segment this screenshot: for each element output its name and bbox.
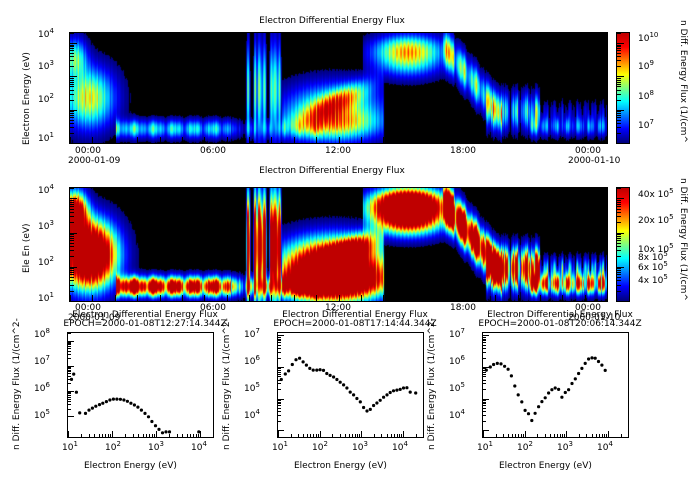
axis-tick (617, 53, 621, 54)
axis-tick (403, 431, 404, 437)
sl-ytick-1e7: 107 (34, 357, 50, 367)
axis-tick (278, 383, 281, 384)
axis-tick (278, 389, 281, 390)
axis-tick (483, 340, 486, 341)
axis-tick (227, 295, 228, 301)
mid-ytick-1e4: 104 (38, 186, 54, 196)
axis-tick (607, 137, 608, 143)
axis-tick (278, 421, 281, 422)
axis-tick (518, 295, 519, 301)
axis-tick (483, 431, 484, 437)
axis-tick (617, 285, 621, 286)
axis-tick (204, 137, 205, 143)
axis-tick (278, 403, 281, 404)
axis-tick (473, 137, 474, 143)
sl-ytick-1e5: 105 (34, 411, 50, 421)
top-spectrogram-ylabel: Electron Energy (eV) (22, 52, 32, 145)
axis-tick (483, 411, 486, 412)
axis-tick (70, 216, 74, 217)
axis-tick (537, 434, 538, 437)
axis-tick (278, 339, 281, 340)
top-ytick-1e4: 104 (38, 30, 54, 40)
top-cb-tick-1e10: 1010 (638, 34, 658, 44)
axis-tick (313, 434, 314, 437)
axis-tick (316, 434, 317, 437)
axis-tick (68, 393, 71, 394)
top-xtick-date-4: 2000-01-10 (568, 156, 620, 166)
axis-tick (483, 399, 489, 400)
top-ytick-1e3: 103 (38, 62, 54, 72)
spectrum-middle-xlabel: Electron Energy (eV) (294, 461, 387, 471)
axis-tick (138, 434, 139, 437)
axis-tick (278, 345, 281, 346)
axis-tick (70, 256, 74, 257)
axis-tick (483, 335, 489, 336)
axis-tick (102, 434, 103, 437)
axis-tick (617, 123, 621, 124)
sl-ytick-1e6: 106 (34, 384, 50, 394)
axis-tick (137, 137, 138, 143)
axis-tick (617, 222, 621, 223)
axis-tick (617, 277, 621, 278)
axis-tick (579, 434, 580, 437)
axis-tick (617, 236, 621, 237)
axis-tick (182, 434, 183, 437)
axis-tick (68, 373, 71, 374)
axis-tick (361, 137, 362, 143)
top-xtick-2: 12:00 (325, 146, 351, 156)
axis-tick (70, 270, 74, 271)
axis-tick (278, 372, 281, 373)
axis-tick (68, 344, 71, 345)
axis-tick (585, 295, 586, 301)
sr-ytick-1e7: 107 (449, 330, 465, 340)
axis-tick (617, 66, 621, 67)
axis-tick (617, 200, 621, 201)
axis-tick (617, 94, 621, 95)
axis-tick (557, 434, 558, 437)
axis-tick (70, 143, 77, 144)
axis-tick (110, 434, 111, 437)
axis-tick (617, 117, 621, 118)
axis-tick (416, 434, 417, 437)
axis-tick (349, 434, 350, 437)
axis-tick (278, 367, 284, 368)
axis-tick (401, 434, 402, 437)
axis-tick (617, 234, 621, 235)
axis-tick (617, 268, 621, 269)
axis-tick (278, 415, 281, 416)
axis-tick (495, 295, 496, 301)
axis-tick (182, 137, 183, 143)
axis-tick (278, 431, 279, 437)
sr-xtick-1e3: 103 (557, 443, 573, 453)
axis-tick (70, 280, 74, 281)
spectrum-right-subtitle: EPOCH=2000-01-08T20:06:14.344Z (450, 319, 670, 329)
axis-tick (617, 46, 621, 47)
axis-tick (278, 400, 281, 401)
axis-tick (70, 243, 74, 244)
axis-tick (617, 111, 621, 112)
axis-tick (540, 137, 541, 143)
axis-tick (70, 272, 74, 273)
axis-tick (68, 416, 74, 417)
axis-tick (617, 246, 621, 247)
axis-tick (81, 434, 82, 437)
axis-tick (70, 48, 74, 49)
axis-tick (200, 431, 201, 437)
axis-tick (70, 188, 74, 189)
axis-tick (525, 431, 526, 437)
axis-tick (621, 434, 622, 437)
axis-tick (394, 434, 395, 437)
axis-tick (278, 430, 284, 431)
axis-tick (628, 434, 629, 437)
sl-ytick-1e8: 108 (34, 330, 50, 340)
sl-xtick-1e3: 103 (148, 443, 164, 453)
axis-tick (483, 400, 486, 401)
top-cb-tick-1e9: 109 (638, 62, 654, 72)
axis-tick (617, 43, 624, 44)
top-colorbar-label: n Diff. Energy Flux (1/(cm^ (678, 20, 688, 143)
axis-tick (483, 376, 486, 377)
axis-tick (68, 348, 71, 349)
axis-tick (68, 395, 71, 396)
axis-tick (70, 238, 74, 239)
axis-tick (70, 222, 74, 223)
axis-tick (617, 202, 621, 203)
spectrum-right-ylabel: n Diff. Energy Flux (1/(cm^2- (427, 318, 437, 450)
axis-tick (617, 301, 624, 302)
axis-tick (483, 380, 486, 381)
axis-tick (68, 401, 71, 402)
axis-tick (562, 434, 563, 437)
axis-tick (278, 411, 281, 412)
axis-tick (278, 340, 281, 341)
axis-tick (169, 434, 170, 437)
axis-tick (617, 115, 621, 116)
middle-spectrogram-ylabel: Ele En (eV) (22, 223, 32, 273)
axis-tick (617, 243, 621, 244)
sr-xtick-1e1: 101 (477, 443, 493, 453)
sr-ytick-1e4: 104 (449, 411, 465, 421)
sl-xtick-1e2: 102 (105, 443, 121, 453)
axis-tick (133, 434, 134, 437)
axis-tick (391, 434, 392, 437)
axis-tick (70, 200, 74, 201)
sr-ytick-1e6: 106 (449, 357, 465, 367)
axis-tick (108, 434, 109, 437)
sl-xtick-1e4: 104 (191, 443, 207, 453)
axis-tick (361, 431, 362, 437)
axis-tick (617, 238, 621, 239)
sm-ytick-1e4: 104 (244, 411, 260, 421)
axis-tick (278, 405, 281, 406)
axis-tick (70, 53, 74, 54)
axis-tick (146, 434, 147, 437)
axis-tick (125, 434, 126, 437)
axis-tick (318, 434, 319, 437)
axis-tick (617, 256, 621, 257)
axis-tick (399, 434, 400, 437)
axis-tick (617, 80, 621, 81)
axis-tick (70, 80, 74, 81)
axis-tick (70, 45, 74, 46)
axis-tick (249, 295, 250, 301)
axis-tick (339, 295, 340, 301)
top-spectrogram-frame (69, 32, 608, 144)
axis-tick (564, 434, 565, 437)
axis-tick (68, 376, 71, 377)
axis-tick (387, 434, 388, 437)
mid-ytick-1e2: 102 (38, 258, 54, 268)
axis-tick (483, 383, 486, 384)
axis-tick (381, 434, 382, 437)
axis-tick (68, 342, 71, 343)
axis-tick (68, 351, 71, 352)
axis-tick (149, 434, 150, 437)
axis-tick (617, 291, 621, 292)
sl-xtick-1e1: 101 (62, 443, 78, 453)
axis-tick (352, 434, 353, 437)
middle-spectrogram-frame (69, 187, 608, 302)
axis-tick (70, 120, 74, 121)
axis-tick (545, 434, 546, 437)
top-cb-tick-1e7: 107 (638, 121, 654, 131)
axis-tick (607, 295, 608, 301)
sm-xtick-1e4: 104 (392, 443, 408, 453)
axis-tick (606, 434, 607, 437)
axis-tick (278, 399, 284, 400)
axis-tick (554, 434, 555, 437)
spectrum-middle-ylabel: n Diff. Energy Flux (1/(cm^2- (222, 318, 232, 450)
axis-tick (94, 434, 95, 437)
axis-tick (617, 274, 621, 275)
axis-tick (160, 295, 161, 301)
axis-tick (137, 295, 138, 301)
spectrum-right-xlabel: Electron Energy (eV) (499, 461, 592, 471)
axis-tick (423, 434, 424, 437)
axis-tick (585, 137, 586, 143)
axis-tick (361, 295, 362, 301)
axis-tick (345, 434, 346, 437)
axis-tick (355, 434, 356, 437)
axis-tick (294, 137, 295, 143)
axis-tick (204, 295, 205, 301)
top-xtick-3: 18:00 (450, 146, 476, 156)
axis-tick (483, 421, 486, 422)
sm-xtick-1e2: 102 (312, 443, 328, 453)
axis-tick (483, 342, 486, 343)
axis-tick (70, 277, 74, 278)
axis-tick (70, 250, 74, 251)
axis-tick (608, 431, 609, 437)
axis-tick (68, 379, 71, 380)
axis-tick (617, 188, 621, 189)
axis-tick (70, 206, 74, 207)
middle-spectrogram-title: Electron Differential Energy Flux (192, 166, 472, 176)
axis-tick (278, 402, 281, 403)
top-ytick-1e1: 101 (38, 134, 54, 144)
axis-tick (68, 431, 69, 437)
axis-tick (70, 82, 74, 83)
axis-tick (70, 33, 74, 34)
axis-tick (68, 383, 71, 384)
axis-tick (278, 408, 281, 409)
sm-xtick-1e3: 103 (352, 443, 368, 453)
axis-tick (617, 280, 621, 281)
axis-tick (89, 434, 90, 437)
axis-tick (550, 434, 551, 437)
axis-tick (316, 295, 317, 301)
axis-tick (599, 434, 600, 437)
axis-tick (70, 94, 74, 95)
axis-tick (278, 352, 281, 353)
axis-tick (68, 354, 71, 355)
axis-tick (483, 403, 486, 404)
axis-tick (68, 358, 71, 359)
axis-tick (359, 434, 360, 437)
axis-tick (617, 86, 621, 87)
axis-tick (68, 397, 71, 398)
axis-tick (278, 335, 284, 336)
axis-tick (483, 345, 486, 346)
axis-tick (70, 274, 74, 275)
axis-tick (70, 291, 74, 292)
axis-tick (278, 342, 281, 343)
axis-tick (495, 137, 496, 143)
axis-tick (617, 78, 621, 79)
axis-tick (70, 202, 74, 203)
axis-tick (278, 358, 281, 359)
top-xtick-4: 00:00 (575, 146, 601, 156)
axis-tick (70, 115, 74, 116)
axis-tick (617, 100, 621, 101)
axis-tick (115, 295, 116, 301)
axis-tick (294, 295, 295, 301)
axis-tick (152, 434, 153, 437)
axis-tick (70, 50, 74, 51)
axis-tick (278, 376, 281, 377)
axis-tick (483, 402, 486, 403)
axis-tick (70, 137, 71, 143)
axis-tick (540, 295, 541, 301)
axis-tick (92, 295, 93, 301)
sr-xtick-1e4: 104 (597, 443, 613, 453)
axis-tick (70, 209, 74, 210)
axis-tick (617, 204, 621, 205)
axis-tick (187, 434, 188, 437)
axis-tick (227, 137, 228, 143)
axis-tick (339, 137, 340, 143)
axis-tick (617, 198, 624, 199)
axis-tick (92, 137, 93, 143)
axis-tick (193, 434, 194, 437)
axis-tick (617, 240, 621, 241)
axis-tick (68, 368, 71, 369)
axis-tick (518, 137, 519, 143)
axis-tick (196, 434, 197, 437)
axis-tick (406, 137, 407, 143)
axis-tick (198, 434, 199, 437)
axis-tick (271, 295, 272, 301)
axis-tick (508, 434, 509, 437)
axis-tick (406, 295, 407, 301)
axis-tick (70, 78, 74, 79)
axis-tick (70, 66, 74, 67)
axis-tick (483, 415, 486, 416)
axis-tick (617, 133, 621, 134)
axis-tick (68, 366, 74, 367)
axis-tick (617, 113, 621, 114)
axis-tick (518, 434, 519, 437)
axis-tick (70, 76, 77, 77)
axis-tick (68, 346, 71, 347)
axis-tick (617, 120, 621, 121)
axis-tick (483, 389, 486, 390)
axis-tick (316, 137, 317, 143)
axis-tick (70, 198, 77, 199)
axis-tick (483, 368, 486, 369)
axis-tick (278, 380, 281, 381)
axis-tick (483, 352, 486, 353)
axis-tick (617, 48, 621, 49)
axis-tick (70, 123, 74, 124)
axis-tick (617, 270, 621, 271)
axis-tick (617, 250, 621, 251)
axis-tick (70, 60, 74, 61)
sm-ytick-1e6: 106 (244, 357, 260, 367)
axis-tick (112, 431, 113, 437)
axis-tick (70, 111, 74, 112)
axis-tick (68, 341, 74, 342)
axis-tick (617, 33, 621, 34)
axis-tick (115, 137, 116, 143)
axis-tick (566, 431, 567, 437)
axis-tick (105, 434, 106, 437)
axis-tick (70, 212, 74, 213)
axis-tick (213, 434, 214, 437)
axis-tick (298, 434, 299, 437)
axis-tick (278, 374, 281, 375)
axis-tick (143, 434, 144, 437)
axis-tick (617, 272, 621, 273)
mid-cb-tick-4: 4x 105 (638, 276, 668, 286)
axis-tick (397, 434, 398, 437)
axis-tick (617, 76, 624, 77)
axis-tick (68, 399, 71, 400)
axis-tick (70, 84, 74, 85)
axis-tick (271, 137, 272, 143)
axis-tick (450, 295, 451, 301)
axis-tick (512, 434, 513, 437)
axis-tick (617, 212, 621, 213)
axis-tick (483, 339, 486, 340)
mid-cb-tick-40: 40x 105 (638, 190, 674, 200)
axis-tick (483, 408, 486, 409)
axis-tick (70, 301, 77, 302)
sr-ytick-1e5: 105 (449, 384, 465, 394)
axis-tick (617, 56, 621, 57)
axis-tick (291, 434, 292, 437)
axis-tick (604, 434, 605, 437)
axis-tick (70, 43, 77, 44)
sr-xtick-1e2: 102 (517, 443, 533, 453)
axis-tick (70, 86, 74, 87)
top-spectrogram-title: Electron Differential Energy Flux (192, 16, 472, 26)
axis-tick (68, 343, 71, 344)
axis-tick (483, 337, 486, 338)
